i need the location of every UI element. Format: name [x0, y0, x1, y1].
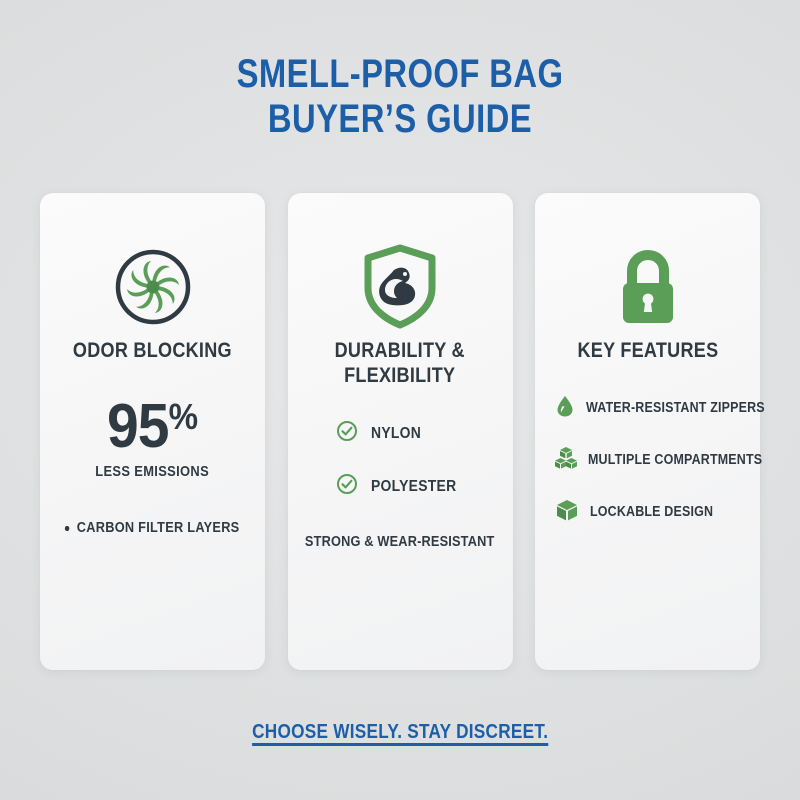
list-item: NYLON [336, 420, 513, 447]
footer-cta-link[interactable]: CHOOSE WISELY. STAY DISCREET. [252, 721, 548, 744]
stat-label: LESS EMISSIONS [96, 463, 210, 480]
card-heading-line: FLEXIBILITY [335, 364, 465, 389]
page-title-line-2: BUYER’S GUIDE [72, 97, 728, 142]
material-list: NYLON POLYESTER [288, 420, 513, 526]
card-heading-line: KEY FEATURES [577, 339, 718, 364]
cube-box-icon [555, 498, 579, 527]
features-list: WATER-RESISTANT ZIPPERS [535, 394, 760, 550]
list-item: WATER-RESISTANT ZIPPERS [555, 394, 760, 423]
check-circle-icon [336, 473, 358, 500]
cards-row: ODOR BLOCKING 95% LESS EMISSIONS CARBON … [40, 193, 760, 670]
card-key-features[interactable]: KEY FEATURES WATER-RESISTANT ZIPPERS [535, 193, 760, 670]
list-item: MULTIPLE COMPARTMENTS [555, 446, 760, 475]
page-title: SMELL-PROOF BAG BUYER’S GUIDE [72, 0, 728, 142]
card-heading-key-features: KEY FEATURES [577, 339, 718, 364]
list-item-label: WATER-RESISTANT ZIPPERS [586, 400, 765, 416]
page-title-line-1: SMELL-PROOF BAG [72, 52, 728, 97]
list-item-label: MULTIPLE COMPARTMENTS [588, 452, 762, 468]
card-odor-blocking[interactable]: ODOR BLOCKING 95% LESS EMISSIONS CARBON … [40, 193, 265, 670]
water-drop-icon [555, 394, 575, 423]
stat-value: 95% [107, 398, 198, 457]
odor-swirl-icon [113, 239, 193, 335]
durability-tagline: STRONG & WEAR-RESISTANT [305, 534, 495, 550]
check-circle-icon [336, 420, 358, 447]
shield-muscle-icon [361, 239, 439, 335]
footer: CHOOSE WISELY. STAY DISCREET. [0, 721, 800, 744]
card-heading-line: ODOR BLOCKING [73, 339, 232, 364]
list-item: LOCKABLE DESIGN [555, 498, 760, 527]
bullet-dot-icon [65, 526, 69, 531]
stat-unit: % [169, 396, 198, 437]
list-item-label: POLYESTER [371, 478, 456, 496]
card-heading-line: DURABILITY & [335, 339, 465, 364]
list-item: POLYESTER [336, 473, 513, 500]
padlock-icon [612, 239, 684, 335]
bullet-label: CARBON FILTER LAYERS [77, 520, 240, 536]
stat-number: 95 [107, 392, 169, 461]
stat-block-emissions: 95% LESS EMISSIONS [86, 398, 218, 481]
infographic-page: SMELL-PROOF BAG BUYER’S GUIDE [0, 0, 800, 800]
stacked-boxes-icon [555, 446, 577, 475]
list-item-label: NYLON [371, 425, 421, 443]
card-heading-odor-blocking: ODOR BLOCKING [73, 339, 232, 364]
list-item: CARBON FILTER LAYERS [65, 520, 240, 536]
list-item-label: LOCKABLE DESIGN [590, 504, 713, 520]
card-durability-flexibility[interactable]: DURABILITY & FLEXIBILITY NYLON [288, 193, 513, 670]
card-heading-durability: DURABILITY & FLEXIBILITY [335, 339, 465, 388]
